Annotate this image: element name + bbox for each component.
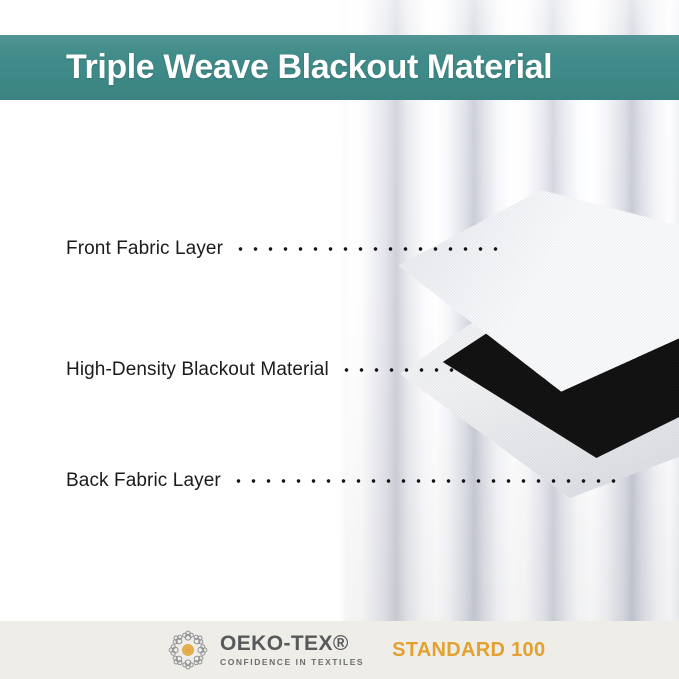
callout-label: Back Fabric Layer	[66, 470, 221, 492]
oeko-tex-brand-name: OEKO-TEX®	[220, 633, 364, 654]
standard-100-label: STANDARD 100	[392, 639, 545, 662]
certification-footer: OEKO-TEX® CONFIDENCE IN TEXTILES STANDAR…	[0, 621, 679, 679]
callout-high-density-blackout-material: High-Density Blackout Material	[66, 359, 507, 381]
dotted-leader-line	[339, 368, 507, 372]
page-title: Triple Weave Blackout Material	[66, 48, 552, 87]
oeko-tex-flower-icon	[168, 630, 208, 670]
oeko-tex-wordmark: OEKO-TEX® CONFIDENCE IN TEXTILES	[220, 633, 364, 667]
callout-label: Front Fabric Layer	[66, 238, 223, 260]
dotted-leader-line	[231, 479, 623, 483]
callout-back-fabric-layer: Back Fabric Layer	[66, 470, 623, 492]
callout-front-fabric-layer: Front Fabric Layer	[66, 238, 503, 260]
callout-label: High-Density Blackout Material	[66, 359, 329, 381]
dotted-leader-line	[233, 247, 503, 251]
oeko-tex-tagline: CONFIDENCE IN TEXTILES	[220, 657, 364, 667]
product-infographic: Triple Weave Blackout Material Front Fab…	[0, 0, 679, 679]
title-banner: Triple Weave Blackout Material	[0, 35, 679, 100]
oeko-tex-badge: OEKO-TEX® CONFIDENCE IN TEXTILES STANDAR…	[168, 630, 545, 670]
